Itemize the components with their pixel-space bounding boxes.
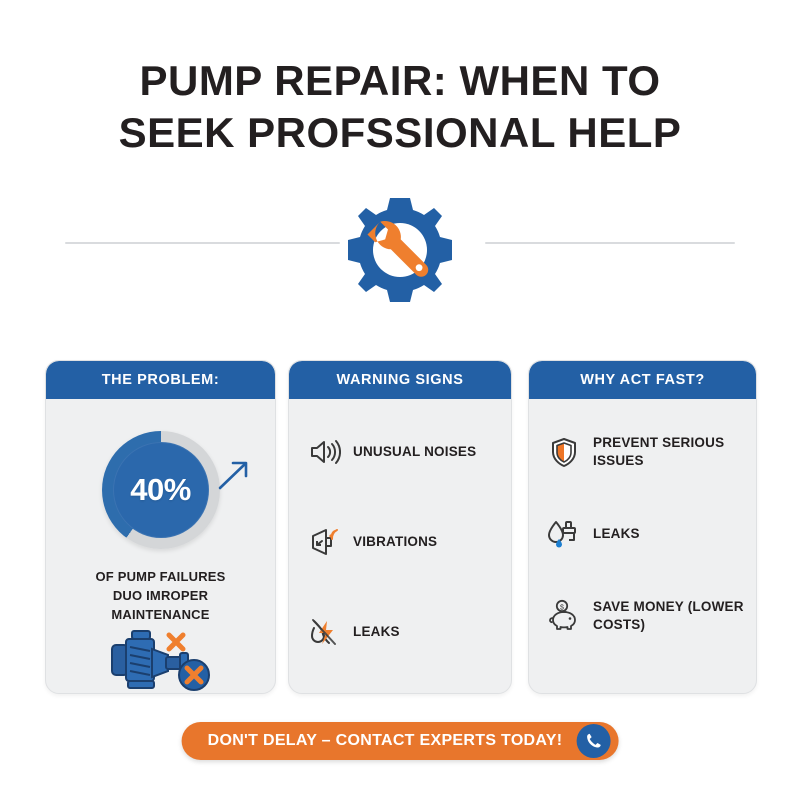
why-act-fast-list: PREVENT SERIOUS ISSUES L: [529, 399, 756, 693]
donut-caption-line-1: OF PUMP FAILURES: [46, 567, 275, 586]
list-item[interactable]: VIBRATIONS: [289, 519, 511, 565]
cta-label: DON'T DELAY – CONTACT EXPERTS TODAY!: [208, 732, 563, 750]
page-title: PUMP REPAIR: WHEN TO SEEK PROFSSIONAL HE…: [0, 55, 800, 159]
list-item-label: LEAKS: [593, 525, 640, 543]
card-warning-signs[interactable]: WARNING SIGNS UNUSUAL NOISES: [288, 360, 512, 694]
card-the-problem[interactable]: THE PROBLEM: 40% OF PUMP FAILURES DUO IM…: [45, 360, 276, 694]
megaphone-vibration-icon: [307, 525, 341, 559]
gear-wrench-icon: [340, 190, 460, 310]
hero-section: [0, 190, 800, 310]
card-header-the-problem: THE PROBLEM:: [46, 361, 275, 399]
list-item-label: LEAKS: [353, 623, 400, 641]
title-line-2: SEEK PROFSSIONAL HELP: [0, 107, 800, 159]
arrow-up-right-icon: [214, 455, 254, 495]
list-item-label: UNUSUAL NOISES: [353, 443, 476, 461]
list-item-label: SAVE MONEY (LOWER COSTS): [593, 598, 756, 634]
donut-caption-line-3: MAINTENANCE: [46, 605, 275, 624]
card-title: WHY ACT FAST?: [580, 372, 705, 388]
donut-chart: 40%: [102, 431, 220, 549]
list-item[interactable]: LEAKS: [289, 609, 511, 655]
card-body-the-problem: 40% OF PUMP FAILURES DUO IMROPER MAINTEN…: [46, 399, 275, 693]
list-item[interactable]: UNUSUAL NOISES: [289, 429, 511, 475]
faucet-drop-icon: [547, 517, 581, 551]
piggy-bank-icon: $: [547, 599, 581, 633]
list-item[interactable]: LEAKS: [529, 511, 756, 557]
divider-right: [485, 242, 735, 244]
list-item-label: VIBRATIONS: [353, 533, 437, 551]
donut-value-label: 40%: [102, 431, 220, 549]
phone-icon[interactable]: [576, 724, 610, 758]
infographic-page: PUMP REPAIR: WHEN TO SEEK PROFSSIONAL HE…: [0, 0, 800, 800]
leak-bolt-icon: [307, 615, 341, 649]
donut-caption-line-2: DUO IMROPER: [46, 586, 275, 605]
card-header-warning-signs: WARNING SIGNS: [289, 361, 511, 399]
cta-banner[interactable]: DON'T DELAY – CONTACT EXPERTS TODAY!: [182, 722, 619, 760]
card-title: THE PROBLEM:: [102, 372, 220, 388]
shield-icon: [547, 435, 581, 469]
card-title: WARNING SIGNS: [336, 372, 463, 388]
card-why-act-fast[interactable]: WHY ACT FAST? PREVENT SERIOUS: [528, 360, 757, 694]
pump-failure-icon: [106, 627, 216, 693]
card-header-why-act-fast: WHY ACT FAST?: [529, 361, 756, 399]
cards-row: THE PROBLEM: 40% OF PUMP FAILURES DUO IM…: [45, 360, 755, 694]
list-item[interactable]: PREVENT SERIOUS ISSUES: [529, 429, 756, 475]
speaker-sound-icon: [307, 435, 341, 469]
card-body-why-act-fast: PREVENT SERIOUS ISSUES L: [529, 399, 756, 693]
divider-left: [65, 242, 340, 244]
donut-caption: OF PUMP FAILURES DUO IMROPER MAINTENANCE: [46, 567, 275, 624]
svg-text:$: $: [560, 604, 564, 611]
warning-signs-list: UNUSUAL NOISES: [289, 399, 511, 693]
title-line-1: PUMP REPAIR: WHEN TO: [0, 55, 800, 107]
card-body-warning-signs: UNUSUAL NOISES: [289, 399, 511, 693]
list-item-label: PREVENT SERIOUS ISSUES: [593, 434, 756, 470]
list-item[interactable]: $ SAVE MONEY (LOWER COSTS): [529, 593, 756, 639]
